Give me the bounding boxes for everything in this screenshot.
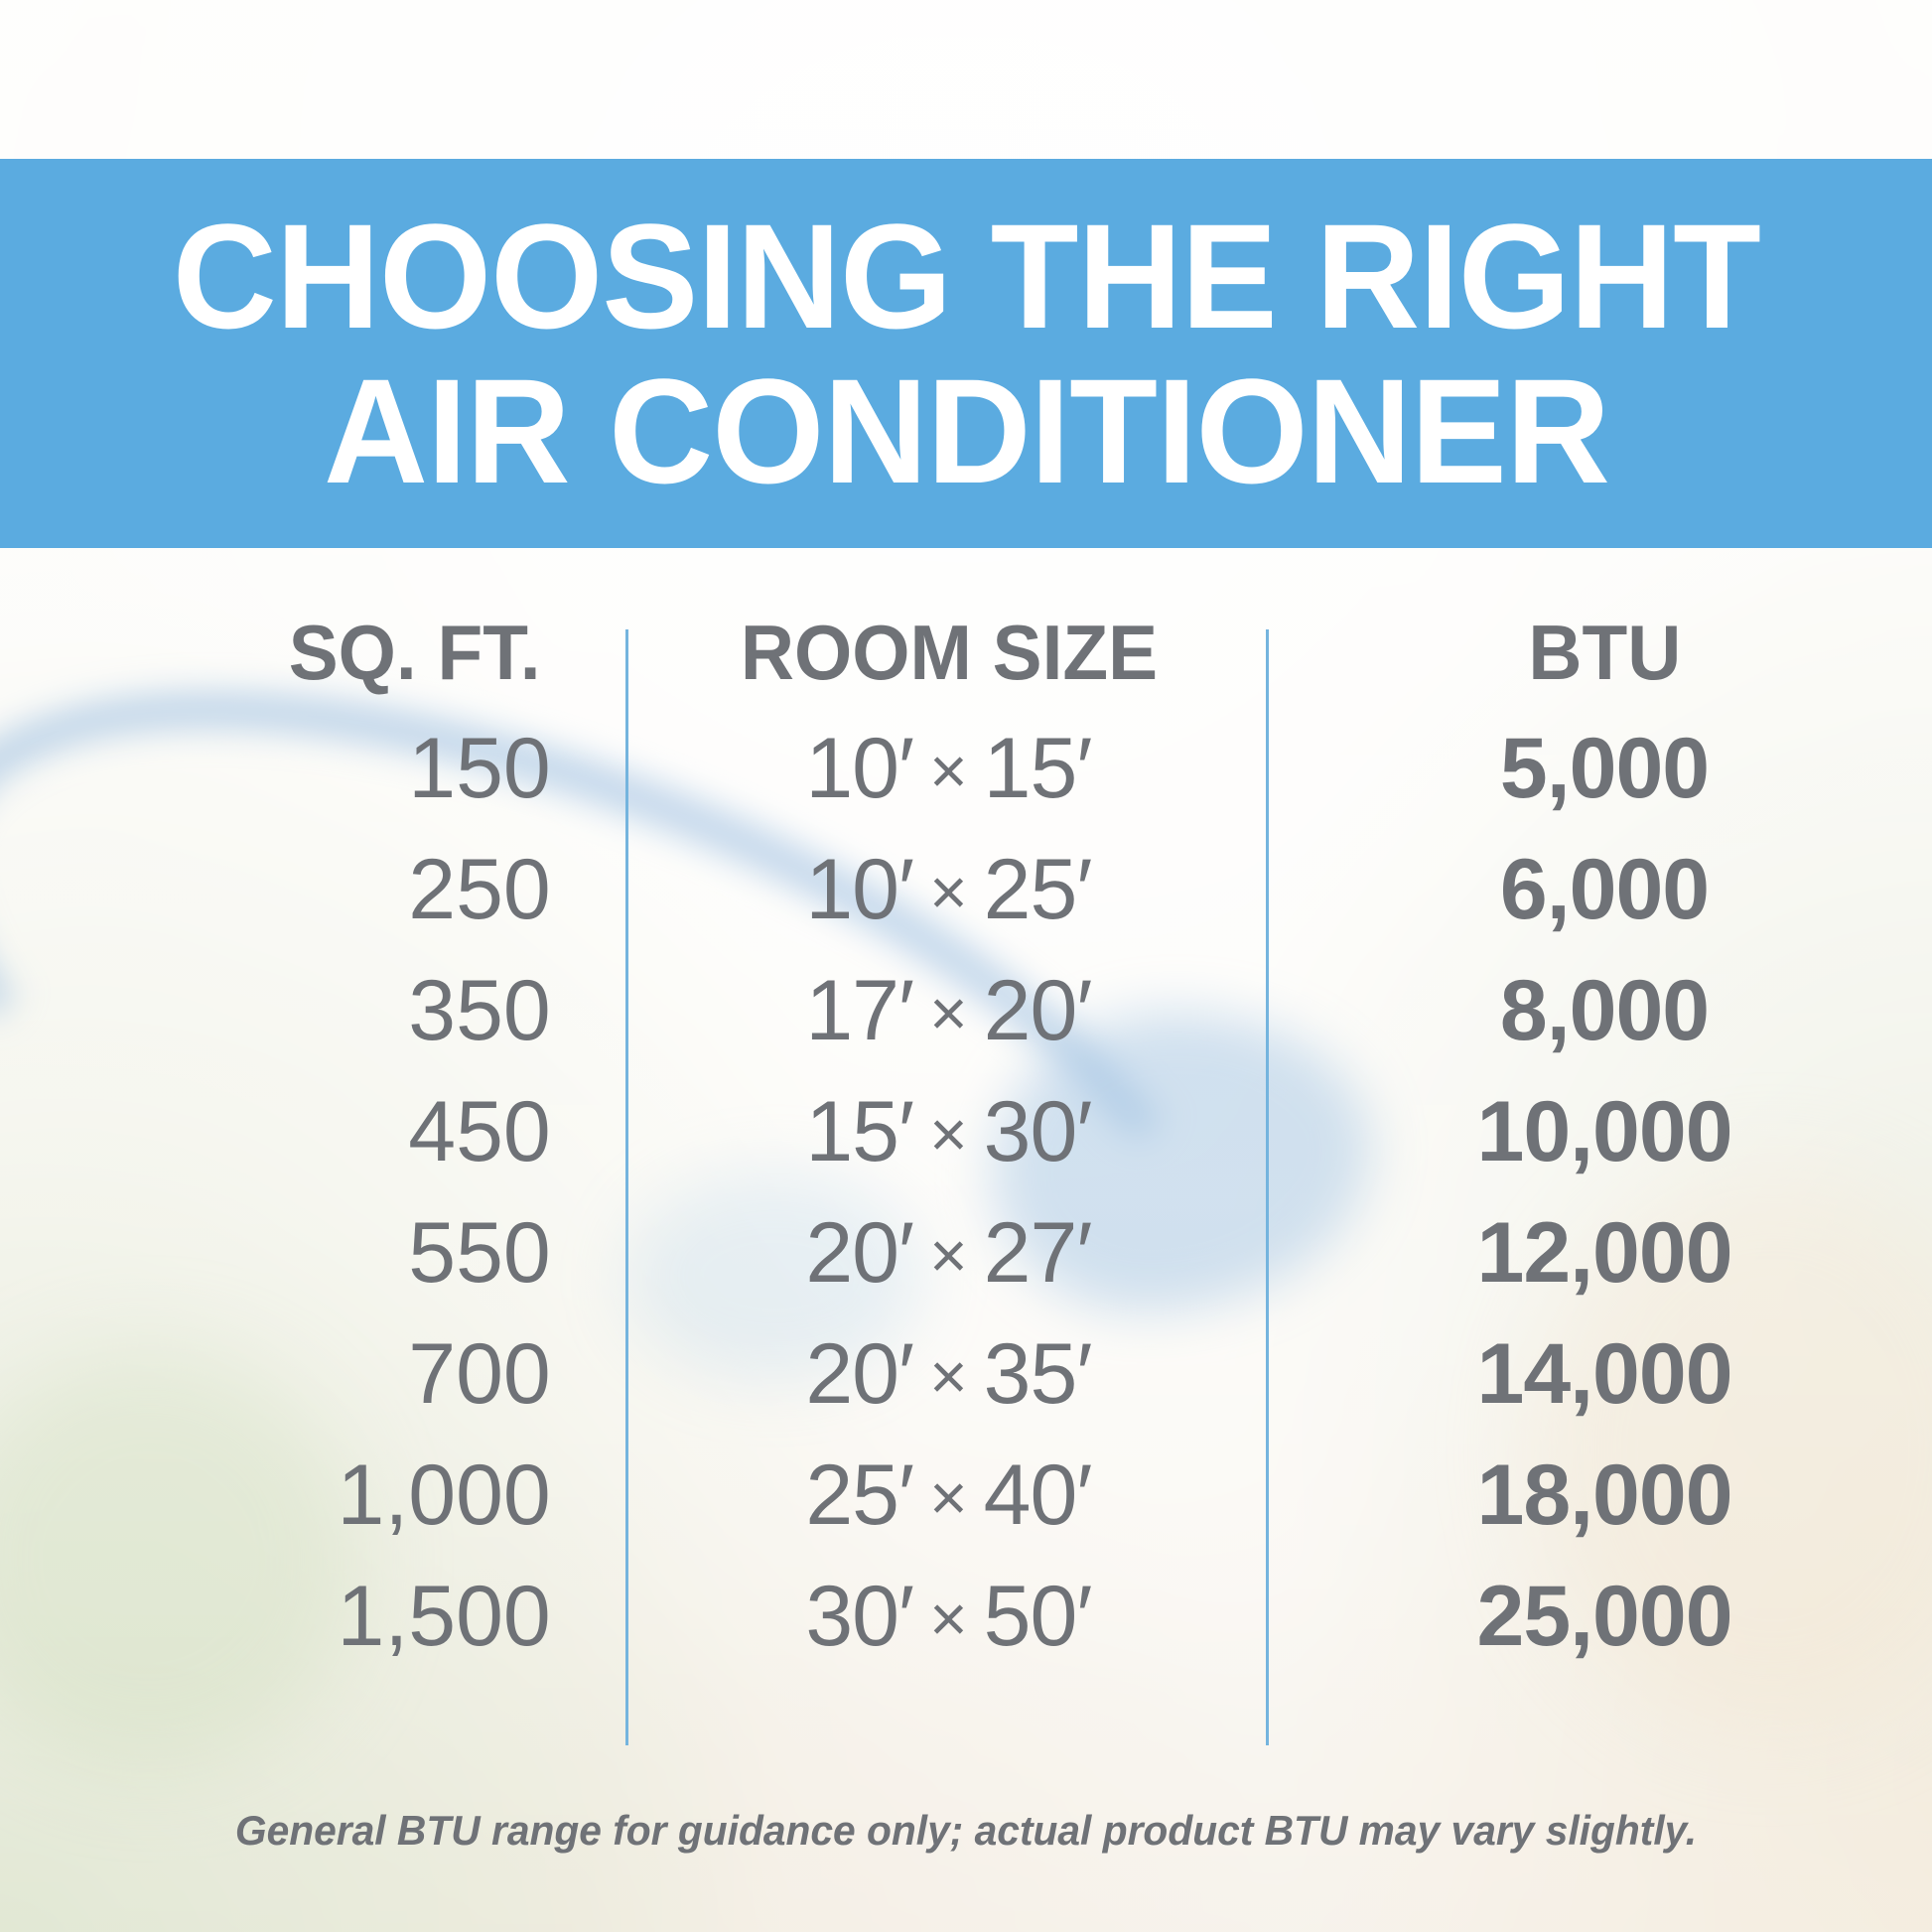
room-length: 27′ <box>984 1205 1092 1301</box>
column-divider-1 <box>625 629 628 1745</box>
room-length: 40′ <box>984 1448 1092 1543</box>
room-length: 35′ <box>984 1326 1092 1422</box>
multiply-icon: × <box>913 734 984 807</box>
multiply-icon: × <box>913 1097 984 1171</box>
footnote: General BTU range for guidance only; act… <box>29 1807 1903 1855</box>
room-width: 25′ <box>805 1448 913 1543</box>
room-length: 30′ <box>984 1084 1092 1179</box>
room-width: 10′ <box>805 842 913 937</box>
table-row: 70020′×35′14,000 <box>0 1325 1932 1447</box>
room-width: 20′ <box>805 1326 913 1422</box>
cell-room-size: 10′×15′ <box>621 720 1262 818</box>
room-length: 50′ <box>984 1569 1092 1664</box>
room-length: 20′ <box>984 963 1092 1058</box>
cell-room-size: 10′×25′ <box>621 841 1262 939</box>
header-btu: BTU <box>1276 608 1918 698</box>
multiply-icon: × <box>913 1218 984 1292</box>
cell-sqft: 550 <box>0 1204 621 1303</box>
cell-sqft: 1,500 <box>0 1568 621 1666</box>
table-row: 25010′×25′6,000 <box>0 841 1932 962</box>
room-length: 25′ <box>984 842 1092 937</box>
table-row: 35017′×20′8,000 <box>0 962 1932 1083</box>
cell-sqft: 700 <box>0 1325 621 1424</box>
cell-room-size: 30′×50′ <box>621 1568 1262 1666</box>
table-body: 15010′×15′5,00025010′×25′6,00035017′×20′… <box>0 720 1932 1689</box>
infographic-page: CHOOSING THE RIGHT AIR CONDITIONER SQ. F… <box>0 0 1932 1932</box>
multiply-icon: × <box>913 1460 984 1534</box>
cell-room-size: 20′×35′ <box>621 1325 1262 1424</box>
cell-room-size: 15′×30′ <box>621 1083 1262 1181</box>
cell-room-size: 20′×27′ <box>621 1204 1262 1303</box>
table-row: 55020′×27′12,000 <box>0 1204 1932 1325</box>
cell-btu: 25,000 <box>1262 1568 1932 1666</box>
cell-btu: 18,000 <box>1262 1447 1932 1545</box>
multiply-icon: × <box>913 1582 984 1655</box>
table-row: 45015′×30′10,000 <box>0 1083 1932 1204</box>
cell-btu: 10,000 <box>1262 1083 1932 1181</box>
cell-btu: 12,000 <box>1262 1204 1932 1303</box>
title-line-1: CHOOSING THE RIGHT <box>172 205 1759 347</box>
table-row: 15010′×15′5,000 <box>0 720 1932 841</box>
room-width: 17′ <box>805 963 913 1058</box>
multiply-icon: × <box>913 976 984 1049</box>
btu-sizing-table: SQ. FT. ROOM SIZE BTU 15010′×15′5,000250… <box>0 608 1932 1689</box>
cell-sqft: 150 <box>0 720 621 818</box>
cell-sqft: 1,000 <box>0 1447 621 1545</box>
multiply-icon: × <box>913 1339 984 1413</box>
room-width: 10′ <box>805 721 913 816</box>
cell-room-size: 25′×40′ <box>621 1447 1262 1545</box>
column-divider-2 <box>1266 629 1269 1745</box>
cell-room-size: 17′×20′ <box>621 962 1262 1060</box>
cell-btu: 8,000 <box>1262 962 1932 1060</box>
cell-sqft: 450 <box>0 1083 621 1181</box>
title-banner: CHOOSING THE RIGHT AIR CONDITIONER <box>0 159 1932 548</box>
multiply-icon: × <box>913 855 984 928</box>
table-row: 1,00025′×40′18,000 <box>0 1447 1932 1568</box>
header-sqft: SQ. FT. <box>13 608 610 698</box>
table-row: 1,50030′×50′25,000 <box>0 1568 1932 1689</box>
header-room-size: ROOM SIZE <box>634 608 1250 698</box>
room-width: 30′ <box>805 1569 913 1664</box>
cell-sqft: 250 <box>0 841 621 939</box>
cell-btu: 14,000 <box>1262 1325 1932 1424</box>
room-width: 15′ <box>805 1084 913 1179</box>
cell-sqft: 350 <box>0 962 621 1060</box>
cell-btu: 6,000 <box>1262 841 1932 939</box>
table-header-row: SQ. FT. ROOM SIZE BTU <box>0 608 1932 698</box>
room-length: 15′ <box>984 721 1092 816</box>
title-line-2: AIR CONDITIONER <box>324 359 1609 502</box>
room-width: 20′ <box>805 1205 913 1301</box>
cell-btu: 5,000 <box>1262 720 1932 818</box>
